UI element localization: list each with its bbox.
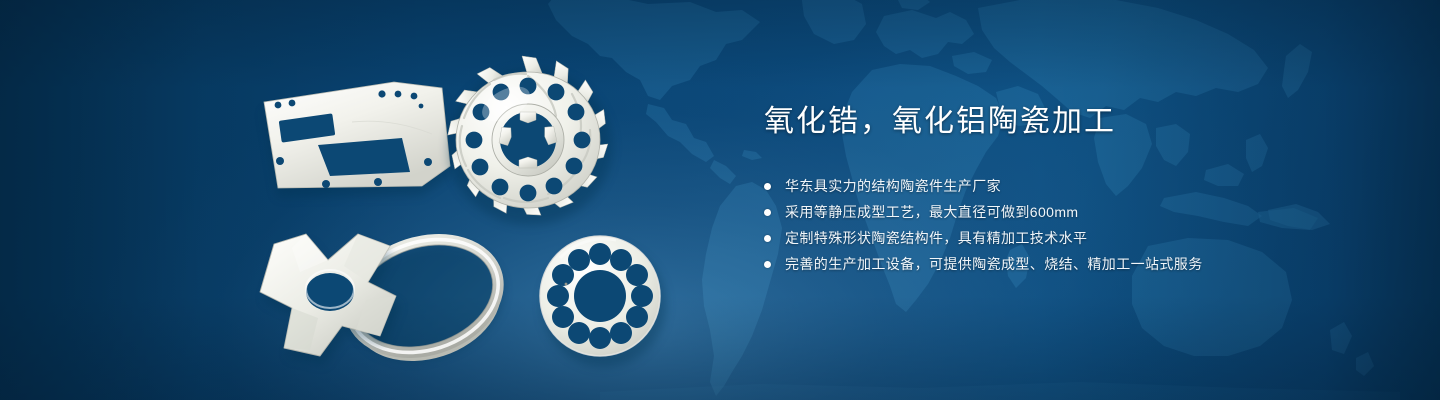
ceramic-impeller-wheel — [446, 56, 610, 220]
list-item: 完善的生产加工设备，可提供陶瓷成型、烧结、精加工一站式服务 — [764, 254, 1364, 275]
ceramic-mounting-plate — [262, 82, 450, 192]
bullet-dot-icon — [764, 235, 771, 242]
product-photo-cluster — [0, 0, 720, 400]
bullet-dot-icon — [764, 183, 771, 190]
ceramic-perforated-disc — [540, 236, 664, 362]
list-item-label: 采用等静压成型工艺，最大直径可做到600mm — [785, 202, 1078, 223]
list-item-label: 华东具实力的结构陶瓷件生产厂家 — [785, 176, 1001, 197]
bullet-dot-icon — [764, 209, 771, 216]
feature-list: 华东具实力的结构陶瓷件生产厂家 采用等静压成型工艺，最大直径可做到600mm 定… — [764, 176, 1364, 275]
page-title: 氧化锆，氧化铝陶瓷加工 — [764, 104, 1364, 140]
hero-banner: 氧化锆，氧化铝陶瓷加工 华东具实力的结构陶瓷件生产厂家 采用等静压成型工艺，最大… — [0, 0, 1440, 400]
list-item: 华东具实力的结构陶瓷件生产厂家 — [764, 176, 1364, 197]
list-item-label: 定制特殊形状陶瓷结构件，具有精加工技术水平 — [785, 228, 1087, 249]
list-item: 采用等静压成型工艺，最大直径可做到600mm — [764, 202, 1364, 223]
banner-copy: 氧化锆，氧化铝陶瓷加工 华东具实力的结构陶瓷件生产厂家 采用等静压成型工艺，最大… — [764, 104, 1364, 280]
list-item-label: 完善的生产加工设备，可提供陶瓷成型、烧结、精加工一站式服务 — [785, 254, 1203, 275]
bullet-dot-icon — [764, 261, 771, 268]
list-item: 定制特殊形状陶瓷结构件，具有精加工技术水平 — [764, 228, 1364, 249]
